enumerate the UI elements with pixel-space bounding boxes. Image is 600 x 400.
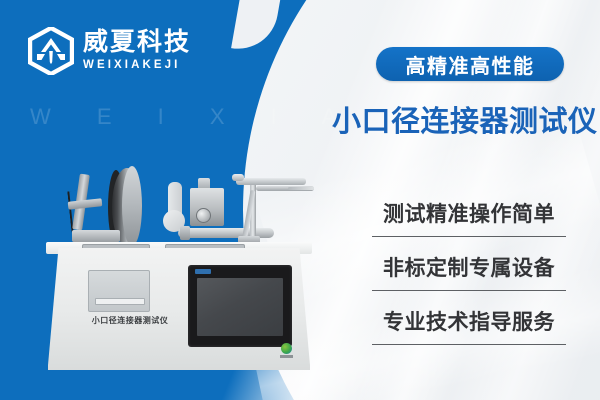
feature-label: 非标定制专属设备 — [370, 252, 568, 282]
feature-list: 测试精准操作简单 非标定制专属设备 专业技术指导服务 — [370, 198, 568, 345]
hero-badge: 高精准高性能 — [376, 47, 564, 81]
feature-label: 专业技术指导服务 — [370, 306, 568, 336]
feature-divider — [372, 236, 566, 238]
brand-logo-text: 威夏科技 WEIXIAKEJI — [83, 30, 191, 72]
brand-name-en: WEIXIAKEJI — [83, 60, 191, 72]
feature-divider — [372, 290, 566, 292]
feature-item: 非标定制专属设备 — [370, 252, 568, 291]
machine-disc-face — [122, 166, 142, 246]
machine-right-probe-tip — [288, 187, 314, 190]
product-machine-image: 小口径连接器测试仪 — [40, 160, 320, 380]
hero-badge-label: 高精准高性能 — [406, 50, 535, 79]
machine-center-dial — [196, 208, 211, 223]
screen-display-area — [197, 278, 283, 336]
machine-side-panel — [88, 270, 150, 312]
screen-brand-strip — [195, 269, 211, 274]
promo-banner: 威夏科技 WEIXIAKEJI W E I X I A K 高精准高性能 小口径… — [0, 0, 600, 400]
machine-right-arm — [236, 178, 306, 185]
feature-item: 专业技术指导服务 — [370, 306, 568, 345]
machine-left-base — [72, 230, 120, 242]
machine-model-label: 小口径连接器测试仪 — [70, 315, 190, 326]
brand-name-cn: 威夏科技 — [83, 30, 191, 55]
certification-badge-icon — [278, 342, 294, 358]
machine-rail-end — [180, 226, 190, 240]
machine-right-knob — [232, 174, 244, 181]
feature-divider — [372, 344, 566, 346]
feature-item: 测试精准操作简单 — [370, 198, 568, 237]
cert-circle — [281, 343, 292, 354]
hero-headline: 小口径连接器测试仪 — [332, 98, 582, 140]
feature-label: 测试精准操作简单 — [370, 198, 568, 228]
hmi-touch-screen-icon — [188, 265, 292, 347]
hexagon-mountain-logo-icon — [28, 27, 74, 75]
cert-bar — [280, 355, 293, 358]
brand-logo: 威夏科技 WEIXIAKEJI — [28, 27, 191, 75]
